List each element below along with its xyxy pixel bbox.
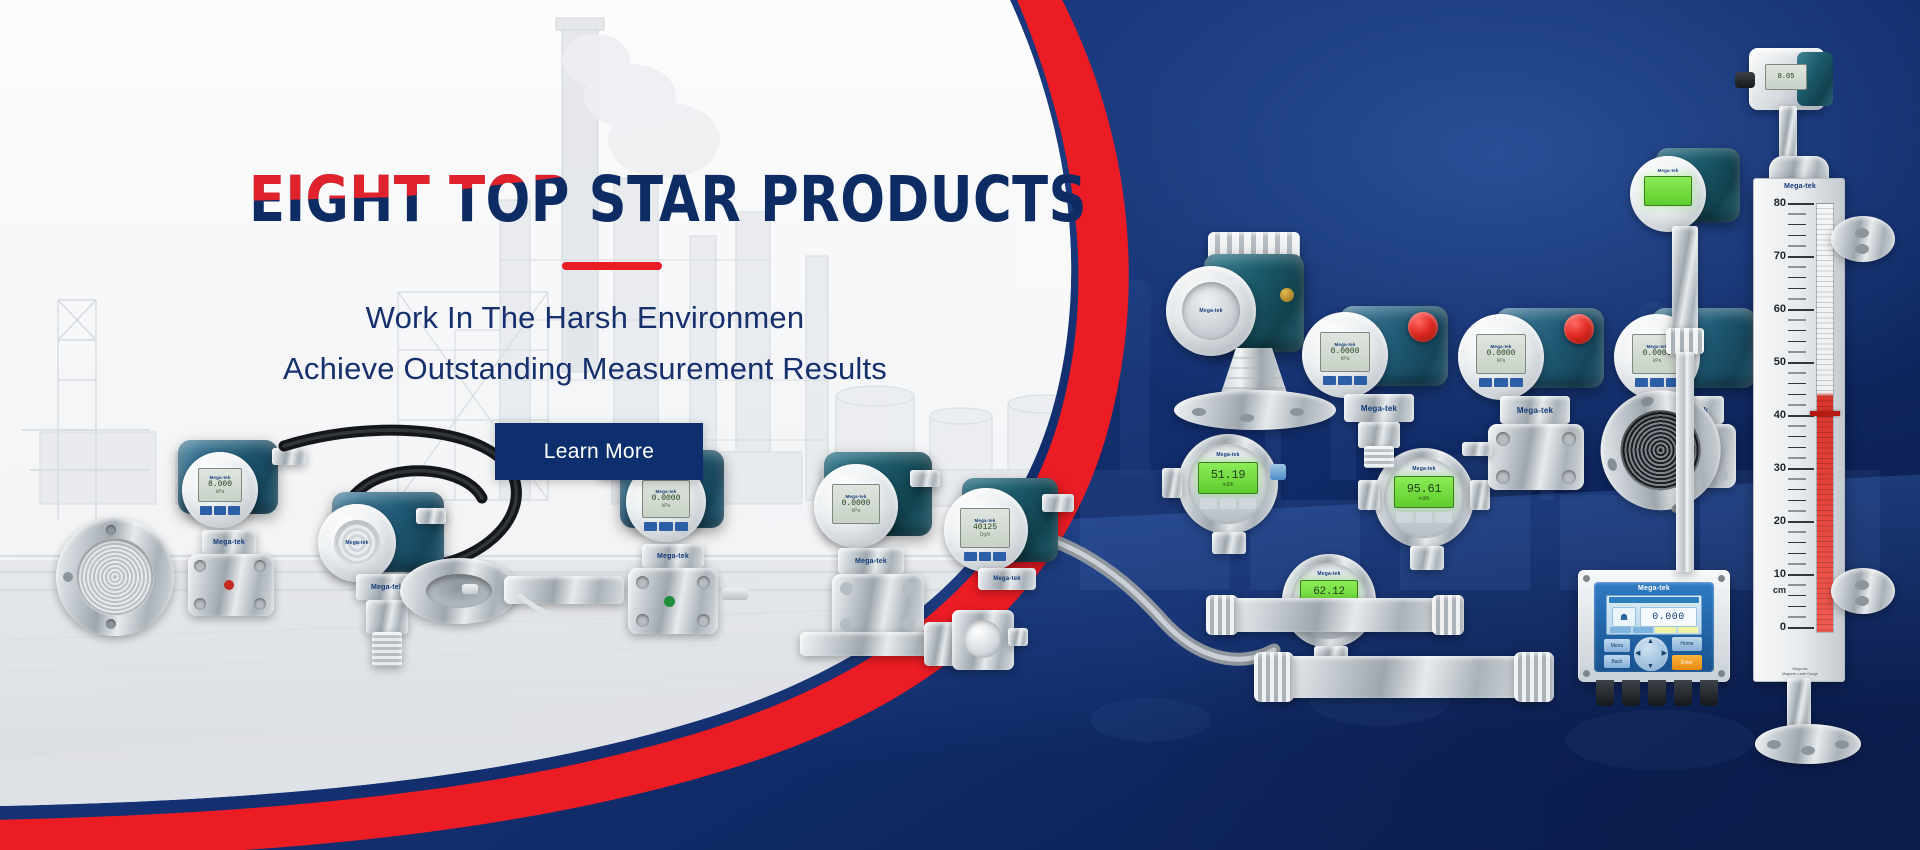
product-flow-tube-spool — [1254, 648, 1554, 708]
lcd-brand: Mega-tek — [1300, 571, 1358, 577]
lcd-value: 95.61 — [1407, 482, 1442, 496]
controller-menu-button[interactable]: Menu — [1604, 639, 1630, 652]
page-title: EIGHT TOP STAR PRODUCTS EIGHT TOP STAR P… — [249, 168, 1150, 231]
subtitle-line-2: Achieve Outstanding Measurement Results — [0, 351, 1040, 387]
gauge-tick: 80 — [1774, 197, 1786, 209]
gauge-spec-label: Mega-tek Magnetic Level Gauge — [1758, 667, 1842, 677]
hero-copy: EIGHT TOP STAR PRODUCTS EIGHT TOP STAR P… — [0, 0, 1040, 560]
gauge-tick: 10 — [1774, 568, 1786, 580]
lcd-unit: kPa — [1497, 358, 1506, 364]
gauge-tick: 40 — [1774, 409, 1786, 421]
gauge-tick: 50 — [1774, 356, 1786, 368]
title-underline-rule — [562, 262, 662, 270]
headline-text: EIGHT TOP STAR PRODUCTS — [249, 163, 1087, 236]
product-turbine-flow-meter: 51.19 m3/h Mega-tek — [1172, 430, 1292, 560]
gauge-level-marker — [1810, 411, 1840, 416]
lcd-unit: m3/h — [1222, 482, 1233, 488]
collar-brand: Mega-tek — [993, 576, 1021, 582]
gauge-tick-labels: 80 70 60 50 40 30 20 10 cm 0 — [1756, 197, 1786, 651]
gauge-brand: Mega-tek — [1754, 183, 1846, 190]
red-cap-icon — [1408, 312, 1438, 342]
collar-brand: Mega-tek — [371, 584, 403, 591]
collar-brand: Mega-tek — [1361, 404, 1397, 413]
cover-brand: Mega-tek — [1199, 308, 1222, 314]
gauge-tick: 30 — [1774, 462, 1786, 474]
product-magnetic-level-gauge: 8.05 Mega-tek 80 70 60 50 40 30 20 — [1735, 48, 1895, 788]
hero-banner: Mega-tek 8.000 kPa Mega-tek — [0, 0, 1920, 850]
controller-enter-button[interactable]: Enter — [1672, 655, 1702, 670]
controller-dpad[interactable]: ▲ ▼ ◀ ▶ — [1634, 637, 1668, 671]
product-flow-tube-spool-upper — [1206, 592, 1466, 640]
probe-brand: Mega-tek — [1644, 168, 1692, 173]
lcd-brand: Mega-tek — [1198, 452, 1258, 458]
gauge-tick: 0 — [1780, 621, 1786, 633]
gauge-head-display: 8.05 — [1778, 73, 1795, 81]
gauge-tick: 70 — [1774, 250, 1786, 262]
lcd-unit: m3/h — [1418, 496, 1429, 502]
gauge-scale-column: Mega-tek 80 70 60 50 40 30 20 10 cm 0 — [1753, 178, 1845, 682]
controller-home-button[interactable]: Home — [1672, 637, 1702, 651]
product-capacitive-level-probe: Mega-tek — [1626, 148, 1746, 588]
lcd-value: 51.19 — [1211, 468, 1246, 482]
gauge-spec-model: Magnetic Level Gauge — [1758, 672, 1842, 677]
gauge-top-flange — [1831, 216, 1895, 262]
learn-more-button[interactable]: Learn More — [495, 423, 703, 480]
collar-brand: Mega-tek — [1517, 406, 1553, 415]
gauge-bottom-flange — [1831, 568, 1895, 614]
controller-display-value: 0.000 — [1652, 612, 1685, 623]
product-pressure-transmitter-a: Mega-tek 0.0000 kPa Mega-tek — [1296, 298, 1456, 468]
gauge-tick: 60 — [1774, 303, 1786, 315]
controller-back-button[interactable]: Back — [1604, 655, 1630, 668]
lcd-unit: kPa — [1341, 356, 1350, 362]
subtitle-line-1: Work In The Harsh Environmen — [0, 300, 1040, 336]
lcd-value: 0.0000 — [1487, 349, 1516, 358]
red-cap-icon — [1564, 314, 1594, 344]
gauge-unit: cm — [1773, 585, 1786, 595]
gauge-tick: 20 — [1774, 515, 1786, 527]
lcd-value: 0.0000 — [1331, 347, 1360, 356]
product-pressure-transmitter-b: Mega-tek 0.0000 kPa Mega-tek — [1452, 300, 1612, 500]
